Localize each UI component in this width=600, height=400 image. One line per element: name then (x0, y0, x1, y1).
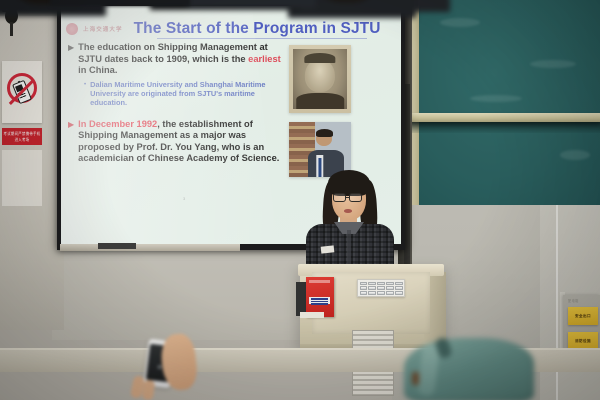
bullet-text-after: in China. (78, 65, 117, 75)
portrait-body (296, 93, 344, 109)
panel-button[interactable] (360, 286, 368, 290)
panel-button[interactable] (360, 291, 368, 295)
panel-caption: 配电箱 (568, 298, 579, 303)
bullet-item: ▶ The education on Shipping Management a… (68, 42, 283, 77)
bullet-text-before: The education on Shipping Management at … (78, 42, 268, 64)
plaque-label: 消防设施 (575, 339, 591, 344)
bullet-item: ▶ In December 1992, the establishment of… (68, 119, 283, 165)
student-shoulders (50, 0, 190, 6)
panel-button[interactable] (368, 291, 376, 295)
plaque-label: 安全出口 (575, 314, 591, 319)
portrait-cap (304, 53, 335, 63)
device-arm (10, 22, 13, 36)
sub-bullet-text: Dalian Maritime University and Shanghai … (90, 80, 283, 108)
panel-button[interactable] (360, 282, 368, 286)
backpack-buckle (412, 372, 419, 385)
exam-notice-band: 考试期间严禁携带手机 进入考场 (2, 128, 42, 145)
bullet-text: The education on Shipping Management at … (78, 42, 283, 77)
blank-wall-poster (2, 150, 42, 206)
screen-mount-bracket (98, 243, 136, 249)
slide-bullet-list: ▶ The education on Shipping Management a… (68, 42, 283, 165)
panel-button[interactable] (368, 286, 376, 290)
binder-label (309, 297, 330, 304)
panel-button[interactable] (377, 291, 385, 295)
notice-line-2: 进入考场 (15, 137, 30, 143)
bullet-highlight: earliest (248, 54, 281, 64)
bullet-marker: ▶ (68, 119, 74, 165)
blackboard-rail-shadow (410, 122, 600, 133)
panel-button[interactable] (377, 282, 385, 286)
screen-reflection (157, 365, 161, 369)
panel-button[interactable] (395, 286, 403, 290)
presenter-mouth (344, 209, 352, 213)
eyeglasses-icon (333, 193, 346, 202)
bullet-marker: ▶ (68, 42, 74, 77)
binder-top-band (309, 280, 330, 283)
slide-title: The Start of the Program in SJTU (134, 20, 381, 38)
panel-button[interactable] (386, 282, 394, 286)
sjtu-wordmark: 上海交通大学 (83, 25, 123, 33)
paper-stack (300, 312, 324, 318)
screen-mount-bar (60, 244, 240, 251)
eyeglasses-icon (349, 193, 362, 202)
blackboard-chalk-rail (410, 113, 600, 122)
panel-button[interactable] (377, 286, 385, 290)
sub-bullet-marker: • (84, 80, 86, 108)
sub-bullet-item: • Dalian Maritime University and Shangha… (84, 80, 283, 108)
slide-page-number: 3 (183, 196, 185, 201)
student-shoulders (186, 0, 316, 8)
eyeglasses-bridge-icon (346, 197, 350, 198)
presenter-name-badge (321, 245, 335, 253)
bullet-lead: In December 1992 (78, 119, 157, 129)
panel-button[interactable] (395, 291, 403, 295)
bullet-text: In December 1992, the establishment of S… (78, 119, 283, 165)
no-mobile-phone-sign (2, 61, 42, 123)
portrait-image (293, 49, 347, 109)
av-control-panel[interactable] (357, 279, 405, 297)
title-underline (157, 38, 367, 39)
historic-portrait-photo (289, 45, 351, 113)
classroom-scene: 配电箱 安全出口 消防设施 考试期间严禁携带手机 进入考场 上海交通大学 (0, 0, 600, 400)
panel-button[interactable] (386, 291, 394, 295)
blackboard-frame (410, 0, 600, 205)
portrait-face (305, 59, 335, 93)
sjtu-logo-icon (66, 23, 78, 35)
professor-hair (316, 129, 333, 137)
panel-button[interactable] (395, 282, 403, 286)
finger (142, 379, 156, 400)
panel-button[interactable] (368, 282, 376, 286)
red-binder (306, 277, 334, 317)
yellow-plaque: 安全出口 (568, 307, 598, 325)
blackboard (410, 0, 600, 205)
notice-line-1: 考试期间严禁携带手机 (4, 131, 41, 137)
panel-button[interactable] (386, 286, 394, 290)
